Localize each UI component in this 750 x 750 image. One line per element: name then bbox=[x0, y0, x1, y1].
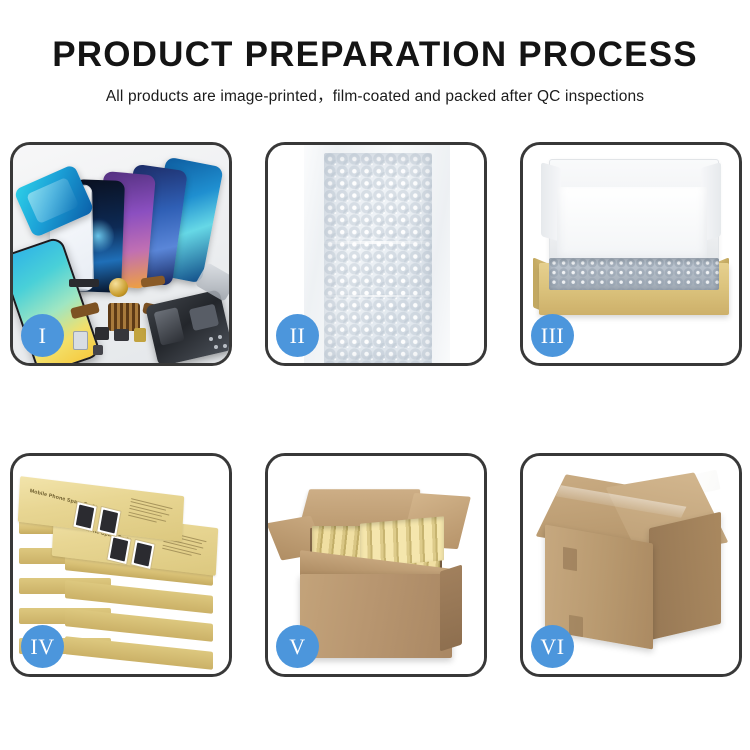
step-badge-4: IV bbox=[21, 625, 64, 668]
step-badge-1: I bbox=[21, 314, 64, 357]
step-panel-1[interactable]: I bbox=[10, 142, 232, 366]
flex-cable-3 bbox=[140, 275, 165, 287]
wireless-coil-component bbox=[109, 278, 128, 297]
step-panel-5[interactable]: V bbox=[265, 453, 487, 677]
step-panel-4[interactable]: Mobile Phone Spare Parts Mobile Phone Sp… bbox=[10, 453, 232, 677]
bubble-wrap-bubbles bbox=[324, 153, 432, 363]
step-panel-3[interactable]: III bbox=[520, 142, 742, 366]
foam-padding bbox=[557, 187, 707, 265]
carton-body bbox=[300, 574, 452, 658]
process-grid: I II III bbox=[0, 0, 750, 750]
bubble-wrapped-contents bbox=[549, 258, 719, 290]
step-badge-2: II bbox=[276, 314, 319, 357]
carton-side-panel bbox=[440, 564, 462, 651]
retail-box-speclines-1 bbox=[128, 498, 175, 528]
ic-chip-component bbox=[114, 329, 129, 341]
earpiece-component bbox=[69, 279, 99, 287]
retail-box-thumbnail-1a bbox=[72, 501, 97, 532]
retail-box-edge-r3 bbox=[65, 608, 213, 642]
step-badge-6: VI bbox=[531, 625, 574, 668]
carton-seam-lower bbox=[569, 615, 583, 637]
screws-group bbox=[209, 335, 229, 355]
bubble-wrap-crease-2 bbox=[324, 295, 432, 297]
gold-contact-component bbox=[134, 328, 146, 342]
step-badge-5: V bbox=[276, 625, 319, 668]
camera-module-component bbox=[95, 327, 109, 340]
retail-box-thumbnail-2b bbox=[130, 539, 155, 570]
chip-array-component bbox=[108, 303, 140, 331]
speaker-component bbox=[93, 345, 103, 355]
step-panel-2[interactable]: II bbox=[265, 142, 487, 366]
retail-box-thumbnail-2a bbox=[106, 534, 131, 565]
sealed-carton-right-face bbox=[649, 512, 721, 641]
retail-box-edge-r4 bbox=[65, 636, 213, 670]
retail-box-thumbnail-1b bbox=[96, 506, 121, 537]
step-panel-6[interactable]: VI bbox=[520, 453, 742, 677]
carton-seam-upper bbox=[563, 547, 577, 571]
bubble-wrap-crease-1 bbox=[324, 241, 432, 244]
step-badge-3: III bbox=[531, 314, 574, 357]
sim-tray-component bbox=[73, 331, 88, 350]
